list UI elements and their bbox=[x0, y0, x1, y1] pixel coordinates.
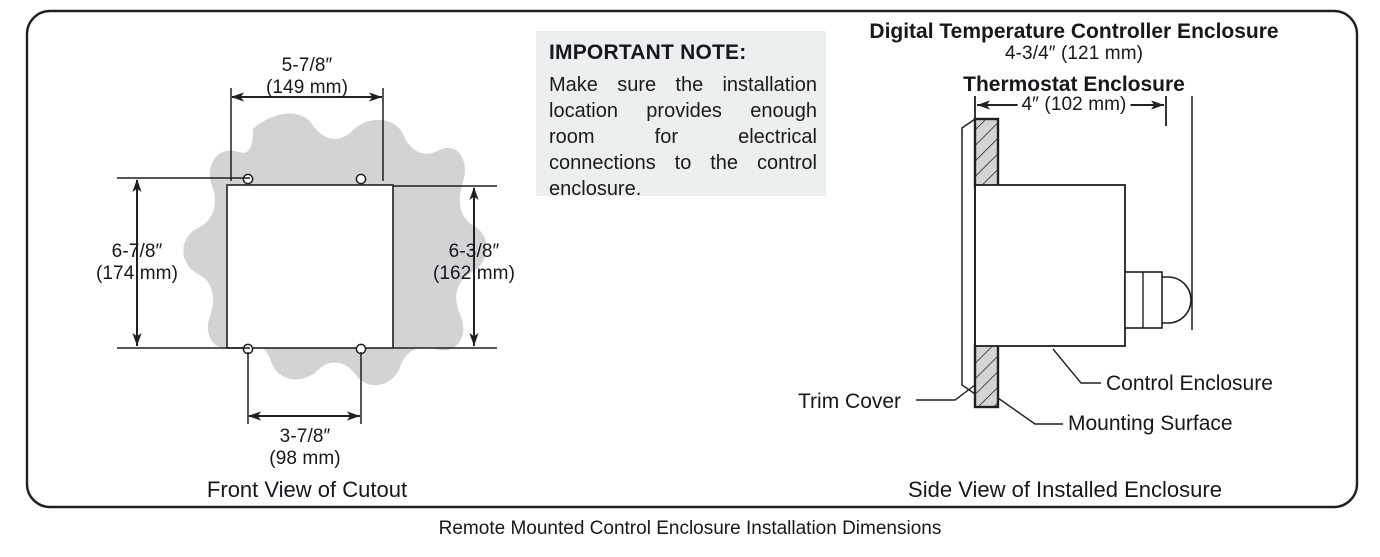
screw-hole bbox=[243, 174, 252, 183]
important-note-body: Make sure the installation location prov… bbox=[549, 72, 817, 202]
cutout-opening bbox=[227, 185, 393, 348]
screw-hole bbox=[356, 174, 365, 183]
important-note-heading: IMPORTANT NOTE: bbox=[549, 41, 746, 65]
thermostat-enclosure-dimension: 4″ (102 mm) bbox=[1018, 94, 1131, 116]
callout-mounting-surface: Mounting Surface bbox=[1068, 412, 1233, 436]
control-enclosure-body bbox=[975, 185, 1125, 346]
front-view-title: Front View of Cutout bbox=[207, 477, 407, 503]
mounting-surface-lower bbox=[975, 345, 998, 407]
leader-control-enclosure bbox=[1053, 349, 1101, 383]
dim-bottom-metric: (98 mm) bbox=[269, 448, 340, 470]
trim-cover-profile bbox=[962, 119, 975, 394]
callout-trim-cover: Trim Cover bbox=[798, 390, 901, 414]
side-view-title: Side View of Installed Enclosure bbox=[908, 477, 1222, 503]
callout-control-enclosure: Control Enclosure bbox=[1106, 372, 1273, 396]
dim-top-metric: (149 mm) bbox=[266, 77, 348, 99]
figure-caption: Remote Mounted Control Enclosure Install… bbox=[439, 518, 942, 540]
dim-top-imperial: 5-7/8″ bbox=[282, 55, 333, 77]
dim-bottom-imperial: 3-7/8″ bbox=[280, 426, 331, 448]
dim-left-imperial: 6-7/8″ bbox=[112, 241, 163, 263]
mounting-surface-upper bbox=[975, 119, 998, 187]
figure-panel: 5-7/8″ (149 mm) 6-7/8″ (174 mm) 6-3/8″ (… bbox=[0, 0, 1380, 557]
dim-left-metric: (174 mm) bbox=[96, 263, 178, 285]
controller-enclosure-heading: Digital Temperature Controller Enclosure bbox=[869, 20, 1278, 44]
dim-right-metric: (162 mm) bbox=[433, 263, 515, 285]
important-note-text: Make sure the installation location prov… bbox=[549, 74, 817, 200]
dim-right-imperial: 6-3/8″ bbox=[449, 241, 500, 263]
controller-enclosure-dimension: 4-3/4″ (121 mm) bbox=[1005, 43, 1143, 65]
leader-mounting-surface bbox=[998, 398, 1063, 424]
